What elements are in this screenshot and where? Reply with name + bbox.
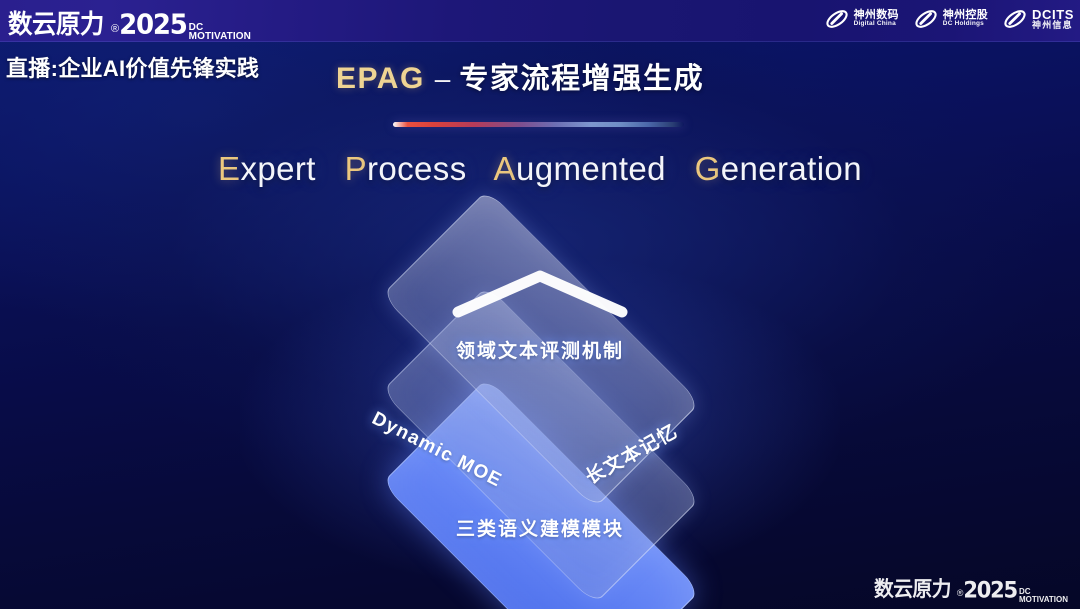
subtitle-rest: rocess <box>367 150 467 187</box>
subtitle-word-process: Process <box>345 150 467 187</box>
subtitle-capital: E <box>218 150 240 187</box>
partner-name-en: 神州信息 <box>1032 21 1074 30</box>
title-chinese: 专家流程增强生成 <box>459 55 704 97</box>
brand-logo-watermark: 数云原力®2025DCMOTIVATION <box>874 573 1068 603</box>
subtitle-word-expert: Expert <box>218 150 316 187</box>
swirl-logo-icon <box>913 6 939 32</box>
partner-logo-text: DCITS 神州信息 <box>1032 8 1074 30</box>
brand-chinese-name: 数云原力 <box>8 4 104 41</box>
swirl-logo-icon <box>1002 6 1028 32</box>
partner-logo-text: 神州控股 DC Holdings <box>943 10 988 28</box>
subtitle-rest: ugmented <box>516 150 666 187</box>
gradient-divider <box>393 122 684 127</box>
subtitle-word-generation: Generation <box>695 150 862 187</box>
registered-mark: ® <box>111 23 119 35</box>
partner-logo-dcits: DCITS 神州信息 <box>1002 6 1074 32</box>
subtitle-capital: G <box>695 150 721 187</box>
partner-name-en: DC Holdings <box>943 21 988 28</box>
brand-dc-line2: MOTIVATION <box>1019 596 1068 603</box>
subtitle-word-augmented: Augmented <box>494 150 666 187</box>
page-title: EPAG – 专家流程增强生成 <box>336 55 704 97</box>
partner-name-en: Digital China <box>854 21 899 28</box>
top-banner: 数云原力®2025DCMOTIVATION 神州数码 Digital China <box>0 0 1080 42</box>
brand-dc-line2: MOTIVATION <box>189 32 251 41</box>
brand-chinese-name: 数云原力 <box>874 573 951 603</box>
subtitle-rest: eneration <box>721 150 862 187</box>
subtitle-space <box>325 150 335 187</box>
subtitle-capital: P <box>345 150 367 187</box>
partner-logo-text: 神州数码 Digital China <box>854 10 899 28</box>
live-session-label: 直播:企业AI价值先锋实践 <box>6 51 259 83</box>
subtitle-space <box>676 150 686 187</box>
title-dash: – <box>435 63 451 95</box>
layered-architecture-diagram: 领域文本评测机制 Dynamic MOE 长文本记忆 三类语义建模模块 <box>300 222 780 592</box>
swirl-logo-icon <box>824 6 850 32</box>
partner-logo-group: 神州数码 Digital China 神州控股 DC Holdings <box>824 6 1074 32</box>
brand-dc-motivation: DCMOTIVATION <box>189 23 251 41</box>
brand-year: 2025 <box>963 578 1017 603</box>
title-acronym: EPAG <box>336 62 425 96</box>
subtitle-rest: xpert <box>240 150 315 187</box>
brand-year: 2025 <box>119 9 187 41</box>
subtitle-expansion: Expert Process Augmented Generation <box>0 150 1080 188</box>
subtitle-space <box>476 150 486 187</box>
partner-logo-dc-holdings: 神州控股 DC Holdings <box>913 6 988 32</box>
brand-logo-top: 数云原力®2025DCMOTIVATION <box>8 4 251 41</box>
brand-dc-motivation: DCMOTIVATION <box>1019 588 1068 603</box>
slide-canvas: 数云原力®2025DCMOTIVATION 神州数码 Digital China <box>0 0 1080 609</box>
subtitle-capital: A <box>494 150 516 187</box>
partner-logo-digital-china: 神州数码 Digital China <box>824 6 899 32</box>
